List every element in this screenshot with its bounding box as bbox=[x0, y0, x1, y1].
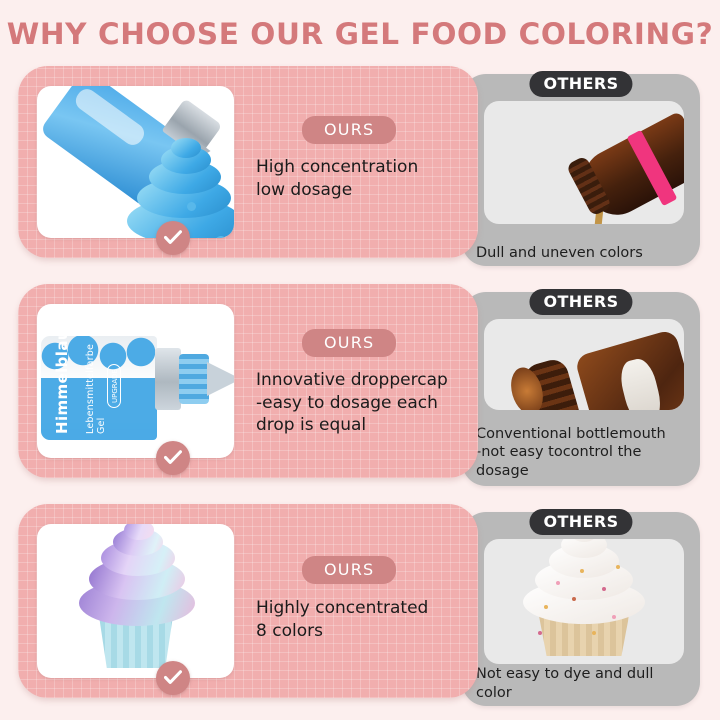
check-icon bbox=[164, 230, 182, 245]
ours-panel: OURS Highly concentrated 8 colors bbox=[18, 504, 478, 698]
ours-image-card: Himmelblau Lebensmittelfarbe Gel UPGRADE bbox=[37, 304, 234, 458]
comparison-row: OTHERS Not easy to dye and dull color bbox=[0, 498, 720, 710]
others-panel: OTHERS Not easy to dye and dull color bbox=[462, 512, 700, 706]
ours-badge: OURS bbox=[302, 556, 396, 584]
plain-cupcake-icon bbox=[484, 539, 684, 664]
ours-feature-line: Highly concentrated bbox=[256, 597, 466, 620]
ours-text-block: OURS Innovative droppercap -easy to dosa… bbox=[250, 284, 466, 478]
ours-feature-line: High concentration bbox=[256, 156, 466, 179]
brown-bottle-pouring-icon bbox=[484, 101, 684, 224]
others-caption-line: -not easy tocontrol the bbox=[476, 443, 692, 462]
ours-feature-text: High concentration low dosage bbox=[256, 156, 466, 201]
check-badge bbox=[156, 441, 190, 475]
bottle-label: Himmelblau bbox=[49, 342, 75, 434]
ours-badge: OURS bbox=[302, 329, 396, 357]
page-title: WHY CHOOSE OUR GEL FOOD COLORING? bbox=[0, 17, 720, 51]
others-badge: OTHERS bbox=[529, 289, 632, 315]
ours-badge: OURS bbox=[302, 116, 396, 144]
ours-feature-line: 8 colors bbox=[256, 620, 466, 643]
others-caption: Conventional bottlemouth -not easy tocon… bbox=[476, 425, 692, 481]
ours-image-card bbox=[37, 524, 234, 678]
ours-panel: Himmelblau Lebensmittelfarbe Gel UPGRADE… bbox=[18, 284, 478, 478]
rainbow-cupcake-icon bbox=[37, 524, 234, 678]
ours-feature-line: drop is equal bbox=[256, 414, 466, 437]
others-caption: Dull and uneven colors bbox=[476, 244, 692, 263]
comparison-row: OTHERS Conventional bottlemouth -not eas… bbox=[0, 278, 720, 490]
ours-image-card bbox=[37, 86, 234, 238]
himmelblau-bottle-icon: Himmelblau Lebensmittelfarbe Gel UPGRADE bbox=[37, 304, 234, 458]
others-image-card bbox=[484, 539, 684, 664]
comparison-row: OTHERS Dull and uneven colors bbox=[0, 60, 720, 270]
ours-feature-text: Innovative droppercap -easy to dosage ea… bbox=[256, 369, 466, 437]
others-panel: OTHERS Conventional bottlemouth -not eas… bbox=[462, 292, 700, 486]
ours-panel: OURS High concentration low dosage bbox=[18, 66, 478, 258]
ours-feature-line: Innovative droppercap bbox=[256, 369, 466, 392]
ours-feature-line: -easy to dosage each bbox=[256, 392, 466, 415]
others-image-card bbox=[484, 101, 684, 224]
ours-text-block: OURS Highly concentrated 8 colors bbox=[250, 504, 466, 698]
others-caption-line: Conventional bottlemouth bbox=[476, 425, 692, 444]
others-caption-line: dosage bbox=[476, 462, 692, 481]
check-badge bbox=[156, 661, 190, 695]
others-caption: Not easy to dye and dull color bbox=[476, 665, 692, 702]
check-icon bbox=[164, 450, 182, 465]
bottle-sublabel: Lebensmittelfarbe Gel bbox=[85, 344, 103, 434]
check-icon bbox=[164, 670, 182, 685]
others-panel: OTHERS Dull and uneven colors bbox=[462, 74, 700, 266]
ours-feature-line: low dosage bbox=[256, 179, 466, 202]
gel-tube-dripping-icon bbox=[37, 86, 234, 238]
bottle-brand-badge: UPGRADE bbox=[107, 364, 121, 408]
ours-feature-text: Highly concentrated 8 colors bbox=[256, 597, 466, 642]
others-image-card bbox=[484, 319, 684, 410]
others-badge: OTHERS bbox=[529, 509, 632, 535]
check-badge bbox=[156, 221, 190, 255]
others-badge: OTHERS bbox=[529, 71, 632, 97]
amber-bottle-mouth-icon bbox=[484, 319, 684, 410]
ours-text-block: OURS High concentration low dosage bbox=[250, 66, 466, 258]
